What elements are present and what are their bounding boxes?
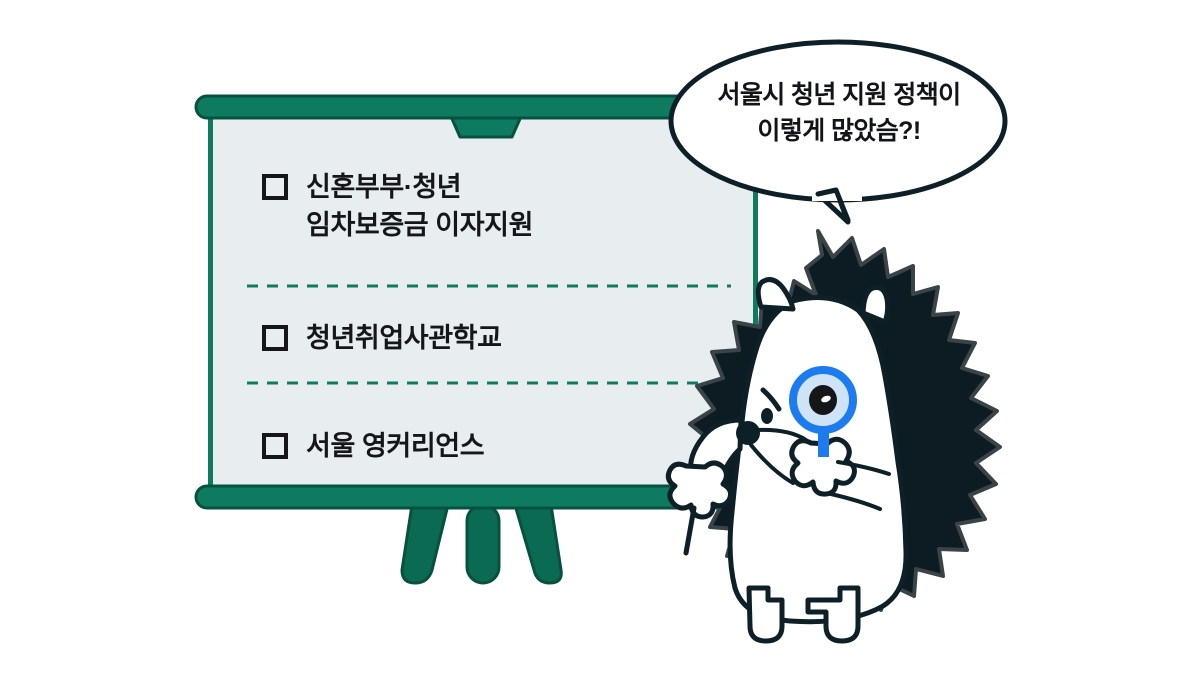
hedgehog-nose xyxy=(736,421,760,445)
board-leg-center xyxy=(467,505,499,583)
board-leg-left xyxy=(402,505,448,583)
board-legs xyxy=(402,505,561,583)
scene-root: 신혼부부·청년 임차보증금 이자지원 청년취업사관학교 서울 영커리언스 서울시… xyxy=(0,0,1200,675)
board-surface xyxy=(208,112,758,489)
hedgehog-eye-left xyxy=(761,408,773,424)
board-leg-right xyxy=(515,505,561,583)
speech-bubble-body xyxy=(671,42,1005,200)
hedgehog-ear-right xyxy=(863,287,888,322)
hedgehog-arm-left-line xyxy=(686,508,694,553)
board-edge-left xyxy=(208,112,213,489)
scene-illustration xyxy=(0,0,1200,675)
hedgehog-ear-left xyxy=(758,280,793,309)
